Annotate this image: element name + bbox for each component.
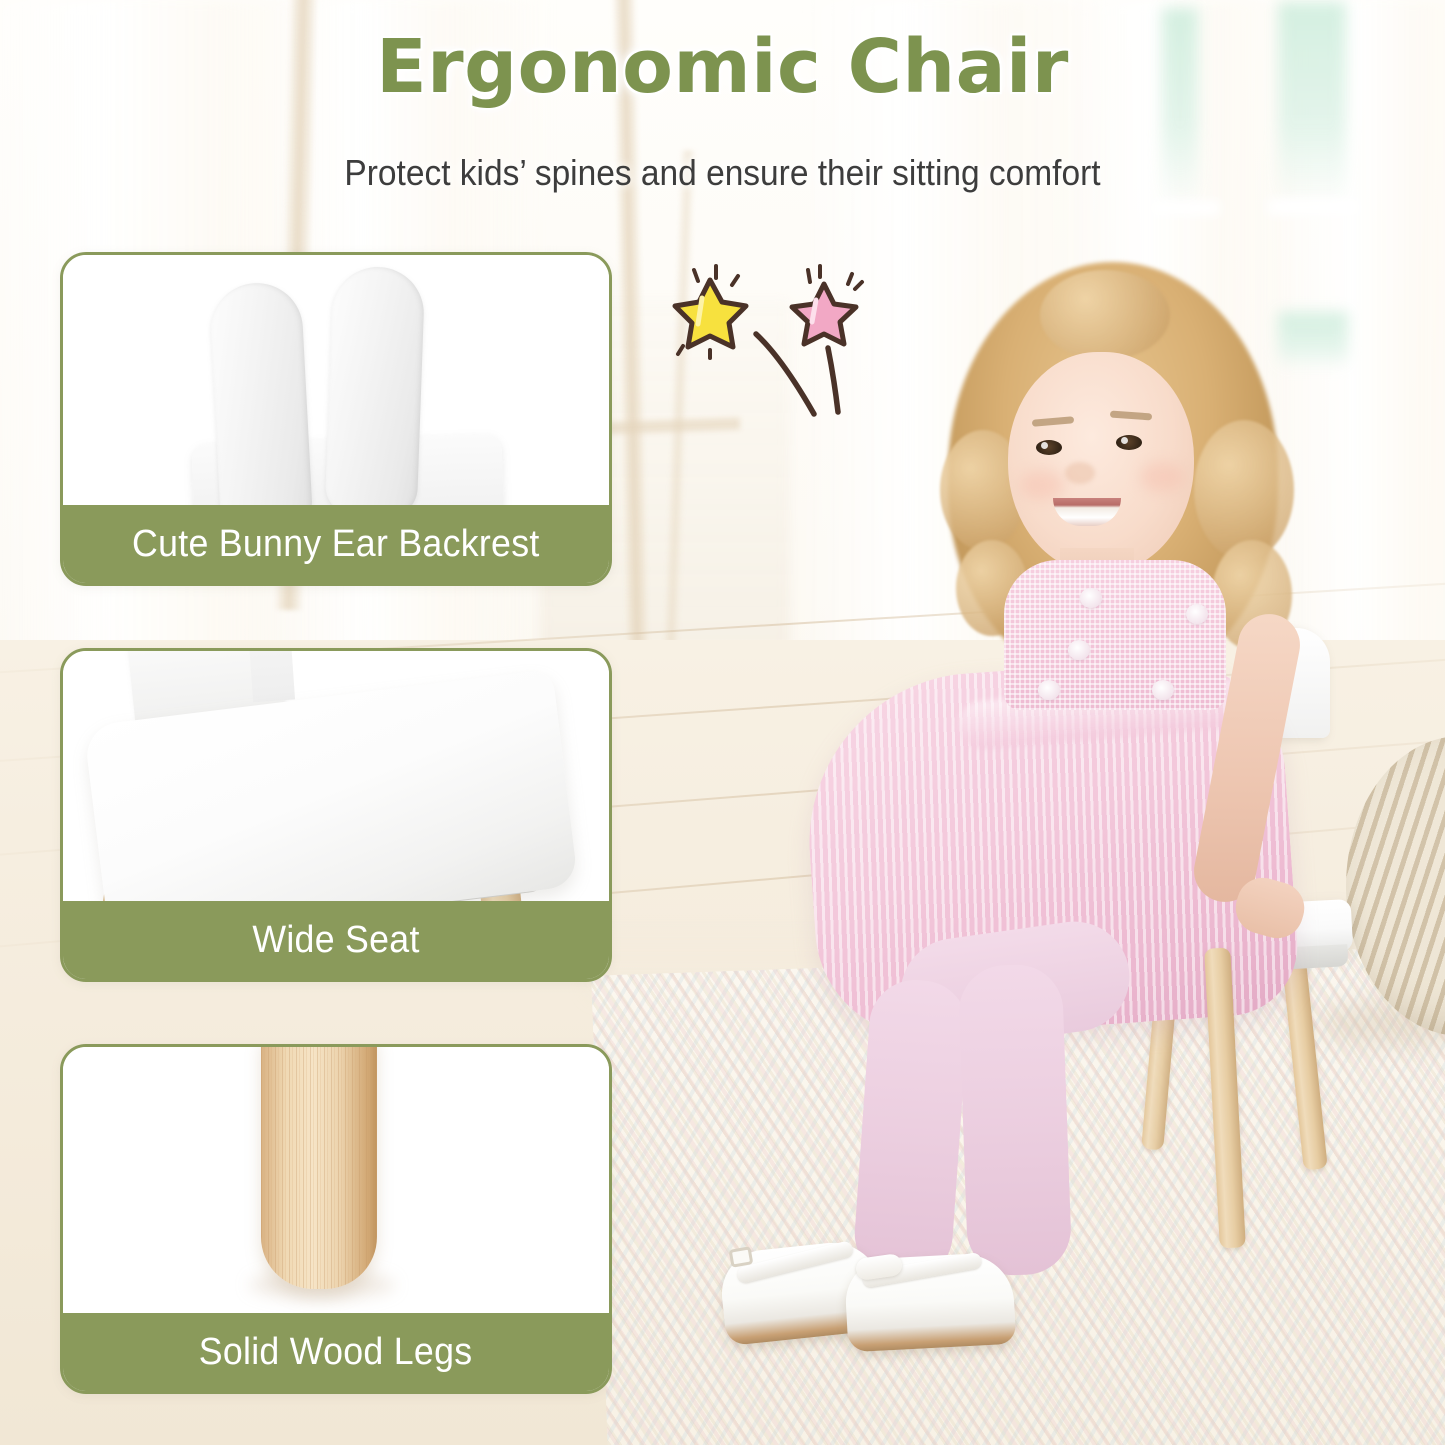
bunny-ear-right bbox=[325, 265, 426, 505]
pink-star-icon bbox=[792, 284, 856, 344]
feature-label-bunny-ear-backrest: Cute Bunny Ear Backrest bbox=[63, 505, 609, 583]
window-sill bbox=[1268, 198, 1360, 216]
feature-image-bunny-ear-backrest bbox=[63, 255, 609, 505]
girl-leg-left bbox=[852, 977, 971, 1283]
feature-label-solid-wood-legs: Solid Wood Legs bbox=[63, 1313, 609, 1391]
window-sill bbox=[1150, 200, 1220, 216]
feature-card-solid-wood-legs[interactable]: Solid Wood Legs bbox=[60, 1044, 612, 1394]
girl-eye-left bbox=[1036, 440, 1062, 455]
feature-label-wide-seat: Wide Seat bbox=[63, 901, 609, 979]
girl-nose bbox=[1065, 462, 1095, 484]
feature-label-text: Cute Bunny Ear Backrest bbox=[132, 523, 540, 566]
yellow-star-icon bbox=[675, 280, 746, 347]
girl-eye-right bbox=[1116, 435, 1142, 450]
feature-card-bunny-ear-backrest[interactable]: Cute Bunny Ear Backrest bbox=[60, 252, 612, 586]
feature-image-wide-seat bbox=[63, 651, 609, 901]
backrest-edge bbox=[245, 651, 295, 702]
feature-label-text: Solid Wood Legs bbox=[199, 1331, 473, 1374]
solid-wood-leg bbox=[261, 1047, 377, 1289]
shoe-buckle bbox=[729, 1246, 754, 1268]
feature-image-solid-wood-legs bbox=[63, 1047, 609, 1313]
feature-card-wide-seat[interactable]: Wide Seat bbox=[60, 648, 612, 982]
page-subtitle: Protect kids’ spines and ensure their si… bbox=[51, 152, 1395, 194]
star-wand-doodles bbox=[672, 262, 882, 422]
feature-label-text: Wide Seat bbox=[252, 919, 419, 962]
window-pane bbox=[1278, 312, 1348, 370]
girl-leg-right bbox=[958, 963, 1073, 1276]
page-title: Ergonomic Chair bbox=[0, 24, 1445, 110]
bunny-ear-left bbox=[209, 281, 314, 505]
